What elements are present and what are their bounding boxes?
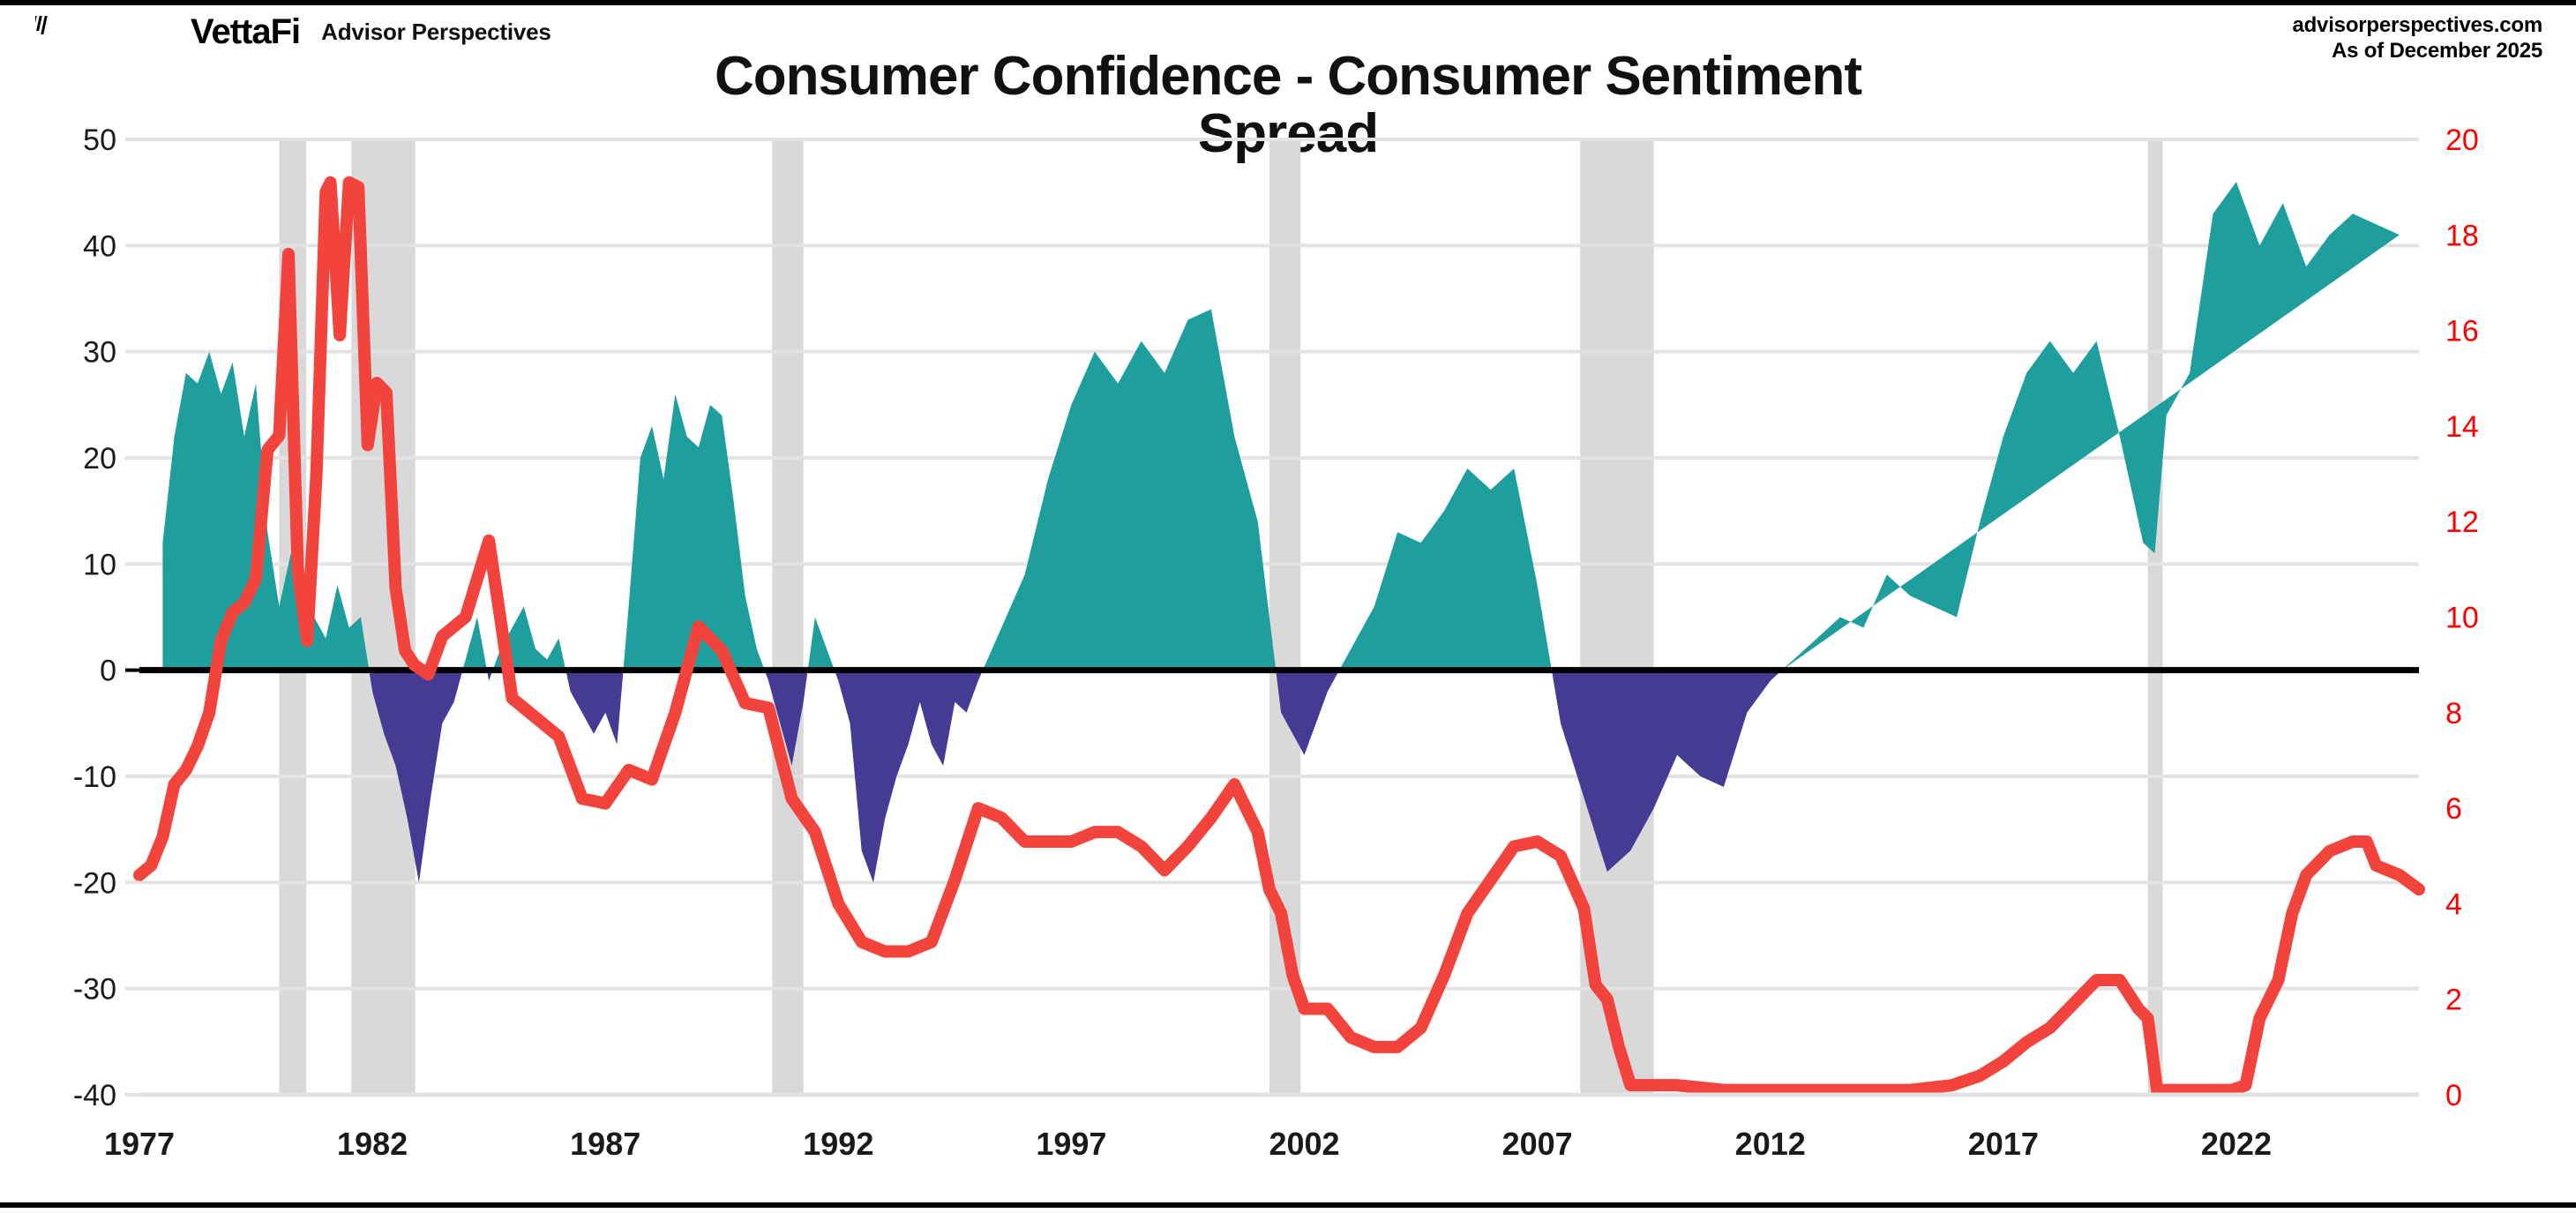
left-axis-tick: -30 — [73, 973, 116, 1007]
left-axis-tick: -20 — [73, 866, 116, 900]
x-axis-tick: 2012 — [1735, 1126, 1806, 1162]
left-axis-tick: -10 — [73, 760, 116, 794]
left-axis-tick: 0 — [100, 655, 116, 688]
x-axis-tick: 1987 — [570, 1126, 640, 1162]
left-axis-tick: 20 — [83, 442, 116, 475]
chart-page: VettaFi Advisor Perspectives advisorpers… — [0, 0, 2576, 1208]
x-axis-tick: 2002 — [1269, 1126, 1339, 1162]
right-axis-tick: 20 — [2445, 124, 2479, 157]
x-axis-tick: 2007 — [1502, 1126, 1573, 1162]
x-axis-tick: 2022 — [2201, 1126, 2272, 1162]
recession-band — [2148, 139, 2163, 1095]
recession-band — [772, 139, 803, 1095]
right-axis-tick: 8 — [2445, 697, 2462, 730]
left-axis-tick: 40 — [83, 229, 116, 263]
x-axis-tick: 1997 — [1036, 1126, 1106, 1162]
x-axis-ticks: 1977198219871992199720022007201220172022 — [104, 1126, 2272, 1162]
right-axis-tick: 16 — [2445, 315, 2479, 348]
right-axis-tick: 14 — [2445, 410, 2479, 444]
right-axis-tick: 18 — [2445, 219, 2479, 252]
left-axis-tick: -40 — [73, 1079, 116, 1112]
x-axis-tick: 2017 — [1968, 1126, 2039, 1162]
right-axis-ticks: 20181614121086420 — [2445, 124, 2479, 1112]
x-axis-tick: 1977 — [104, 1126, 175, 1162]
x-axis-tick: 1992 — [803, 1126, 873, 1162]
spread-chart-svg: 50403020100-10-20-30-4020181614121086420… — [0, 5, 2576, 1213]
right-axis-tick: 0 — [2445, 1079, 2462, 1112]
right-axis-tick: 2 — [2445, 984, 2462, 1017]
right-axis-tick: 6 — [2445, 792, 2462, 826]
left-axis-tick: 10 — [83, 548, 116, 581]
left-axis-ticks: 50403020100-10-20-30-40 — [73, 124, 139, 1112]
left-axis-tick: 50 — [83, 124, 116, 157]
right-axis-tick: 4 — [2445, 887, 2462, 921]
right-axis-tick: 12 — [2445, 505, 2479, 539]
chart-canvas: 50403020100-10-20-30-4020181614121086420… — [0, 5, 2576, 1213]
x-axis-tick: 1982 — [337, 1126, 408, 1162]
right-axis-tick: 10 — [2445, 602, 2479, 635]
left-axis-tick: 30 — [83, 336, 116, 370]
